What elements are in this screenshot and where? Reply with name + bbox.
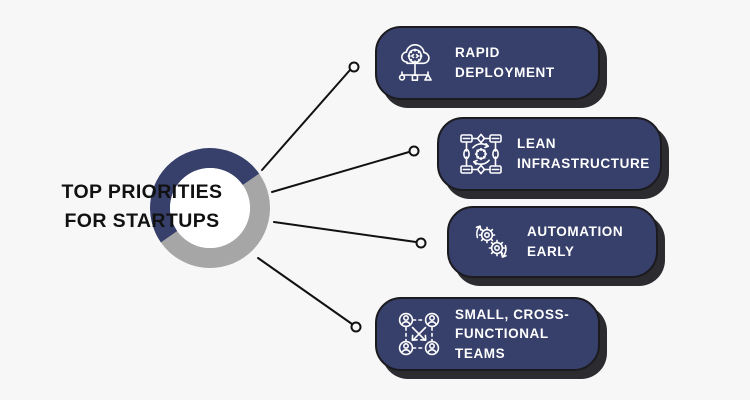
connector-3-endpoint-dot [417, 239, 426, 248]
priority-card-automation-early[interactable]: AUTOMATION EARLY [447, 206, 658, 278]
priority-card-label: SMALL, CROSS- FUNCTIONAL TEAMS [455, 305, 584, 364]
connector-3 [274, 222, 416, 242]
connector-4 [258, 258, 352, 324]
priority-card-label: AUTOMATION EARLY [527, 222, 623, 261]
priority-card-small-cross-functional-teams[interactable]: SMALL, CROSS- FUNCTIONAL TEAMS [375, 297, 600, 371]
two-gears-arrows-icon [465, 216, 517, 268]
priority-card-label: RAPID DEPLOYMENT [455, 43, 555, 82]
infographic-canvas: TOP PRIORITIES FOR STARTUPS RAPID DEPLOY… [0, 0, 750, 400]
connector-1-endpoint-dot [350, 63, 359, 72]
network-gear-icon [455, 128, 507, 180]
priority-card-lean-infrastructure[interactable]: LEAN INFRASTRUCTURE [437, 117, 662, 191]
connector-1 [262, 70, 350, 170]
connector-2 [272, 152, 409, 192]
priority-card-rapid-deployment[interactable]: RAPID DEPLOYMENT [375, 26, 600, 100]
team-network-icon [393, 308, 445, 360]
connector-4-endpoint-dot [352, 323, 361, 332]
cloud-code-gear-icon [393, 37, 445, 89]
connector-lines [258, 63, 426, 332]
connector-2-endpoint-dot [410, 147, 419, 156]
page-title: TOP PRIORITIES FOR STARTUPS [38, 178, 246, 237]
priority-card-label: LEAN INFRASTRUCTURE [517, 134, 650, 173]
